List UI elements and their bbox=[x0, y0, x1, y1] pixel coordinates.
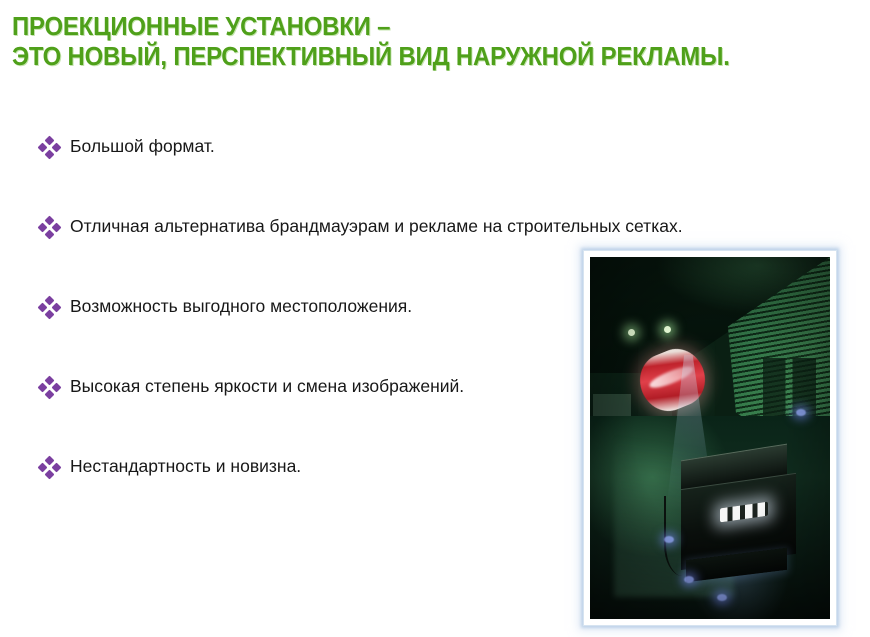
projector-photo bbox=[583, 250, 837, 626]
list-item: Нестандартность и новизна. bbox=[38, 444, 558, 524]
list-item: Высокая степень яркости и смена изображе… bbox=[38, 364, 558, 444]
diamond-bullet-icon bbox=[38, 456, 62, 480]
slide-title: ПРОЕКЦИОННЫЕ УСТАНОВКИ – ЭТО НОВЫЙ, ПЕРС… bbox=[12, 11, 858, 71]
ground-light-glint bbox=[717, 594, 727, 601]
list-item-label: Отличная альтернатива брандмауэрам и рек… bbox=[62, 204, 683, 238]
ground-light-glint bbox=[684, 576, 694, 583]
list-item-label: Нестандартность и новизна. bbox=[62, 444, 558, 478]
bullet-list: Большой формат. Отличная альтернатива бр… bbox=[38, 124, 558, 524]
diamond-bullet-icon bbox=[38, 216, 62, 240]
diamond-bullet-icon bbox=[38, 296, 62, 320]
list-item: Большой формат. bbox=[38, 124, 558, 204]
list-item-label: Большой формат. bbox=[62, 124, 558, 158]
presentation-slide: ПРОЕКЦИОННЫЕ УСТАНОВКИ – ЭТО НОВЫЙ, ПЕРС… bbox=[0, 0, 870, 637]
diamond-bullet-icon bbox=[38, 376, 62, 400]
photo-content bbox=[590, 257, 830, 619]
list-item-label: Высокая степень яркости и смена изображе… bbox=[62, 364, 558, 398]
diamond-bullet-icon bbox=[38, 136, 62, 160]
list-item: Отличная альтернатива брандмауэрам и рек… bbox=[38, 204, 558, 284]
slide-title-line-1: ПРОЕКЦИОННЫЕ УСТАНОВКИ – bbox=[12, 11, 790, 41]
list-item-label: Возможность выгодного местоположения. bbox=[62, 284, 558, 318]
slide-title-line-2: ЭТО НОВЫЙ, ПЕРСПЕКТИВНЫЙ ВИД НАРУЖНОЙ РЕ… bbox=[12, 41, 790, 71]
list-item: Возможность выгодного местоположения. bbox=[38, 284, 558, 364]
